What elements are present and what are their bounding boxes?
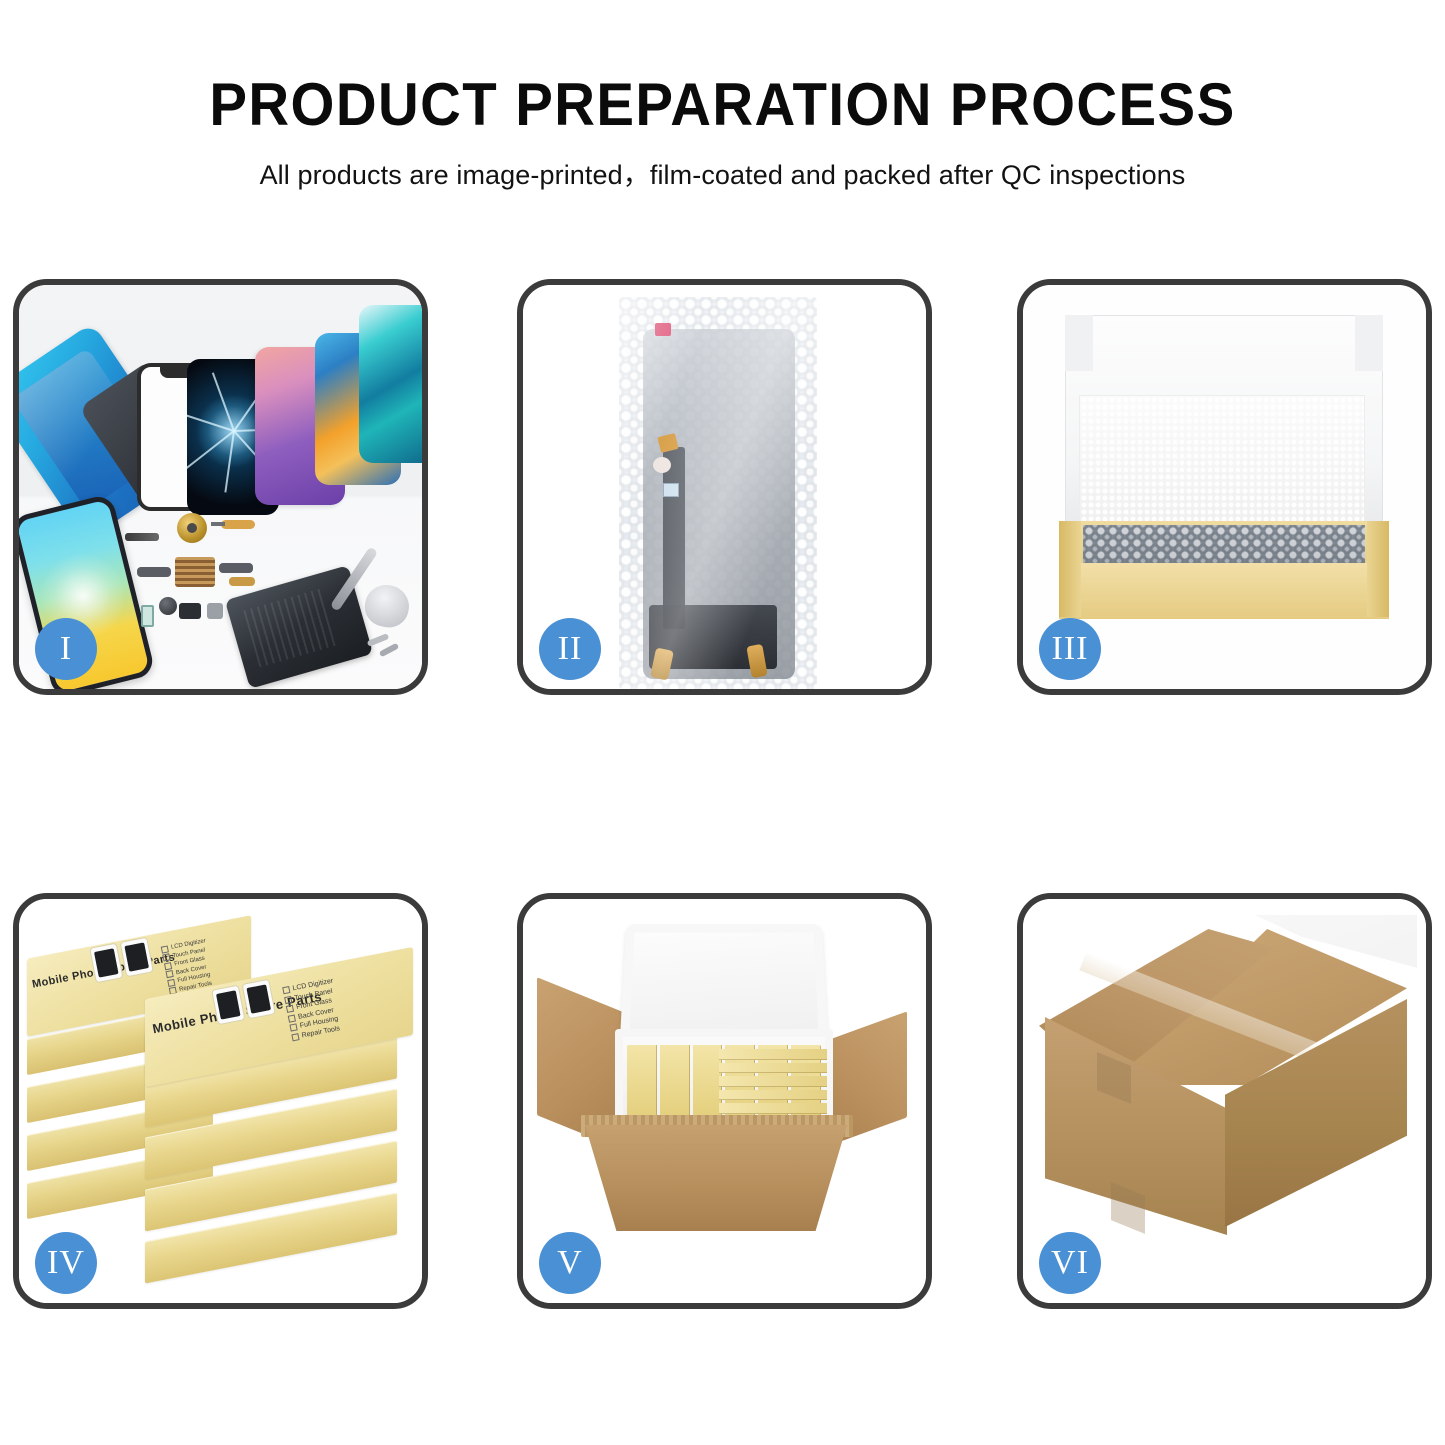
foam-cooler-lid xyxy=(620,924,829,1045)
checkbox-icon xyxy=(291,1033,299,1041)
front-box-checklist: LCD Digitizer Touch Panel Front Glass Ba… xyxy=(282,977,343,1043)
yellow-box-front-wall xyxy=(1059,563,1389,619)
taptic-engine-part xyxy=(177,513,207,543)
step-card-2[interactable]: II xyxy=(517,279,932,695)
step-badge-4: IV xyxy=(35,1232,97,1294)
camera-module-part xyxy=(179,603,201,619)
checkbox-icon xyxy=(286,1005,294,1013)
carton-body xyxy=(585,1125,847,1231)
checkbox-icon xyxy=(161,945,169,953)
lid-tab-right xyxy=(1355,315,1383,371)
step-badge-6: VI xyxy=(1039,1232,1101,1294)
checkbox-icon xyxy=(282,986,290,994)
white-foam-sheet xyxy=(1079,395,1365,523)
checkbox-icon xyxy=(164,962,172,970)
step-card-6[interactable]: VI xyxy=(1017,893,1432,1309)
bubble-wrap-bag xyxy=(619,297,817,689)
checkbox-icon xyxy=(166,970,174,978)
checkbox-icon xyxy=(288,1014,296,1022)
step-badge-3: III xyxy=(1039,618,1101,680)
flex-cable-part-d xyxy=(229,577,255,586)
process-step-grid: I II xyxy=(0,0,1445,1445)
step-badge-1: I xyxy=(35,618,97,680)
phone-thumb-icon xyxy=(212,986,244,1024)
flex-cable-part-a xyxy=(221,520,255,529)
phone-thumb-icon xyxy=(90,944,122,982)
step-card-1[interactable]: I xyxy=(13,279,428,695)
checkbox-icon xyxy=(284,996,292,1004)
flex-cable-part-c xyxy=(219,563,253,573)
bubble-sheen-overlay xyxy=(619,297,817,689)
tray-side-left xyxy=(1059,521,1081,617)
shield-plate-part xyxy=(207,603,223,619)
ic-chip-part xyxy=(175,557,215,587)
camera-lens-part xyxy=(159,597,177,615)
tray-side-right xyxy=(1367,521,1389,617)
teal-wave-phone xyxy=(359,305,422,463)
checkbox-icon xyxy=(167,979,175,987)
checkbox-icon xyxy=(162,954,170,962)
sim-tray-part xyxy=(141,605,154,627)
step-card-4[interactable]: Mobile Phone Spare Parts LCD Digitizer T… xyxy=(13,893,428,1309)
step-badge-2: II xyxy=(539,618,601,680)
step-badge-5: V xyxy=(539,1232,601,1294)
step-card-5[interactable]: V xyxy=(517,893,932,1309)
lid-tab-left xyxy=(1065,315,1093,371)
earpiece-speaker-part xyxy=(125,533,159,541)
step-card-3[interactable]: III xyxy=(1017,279,1432,695)
checkbox-icon xyxy=(290,1024,298,1032)
flex-cable-part-b xyxy=(137,567,171,577)
